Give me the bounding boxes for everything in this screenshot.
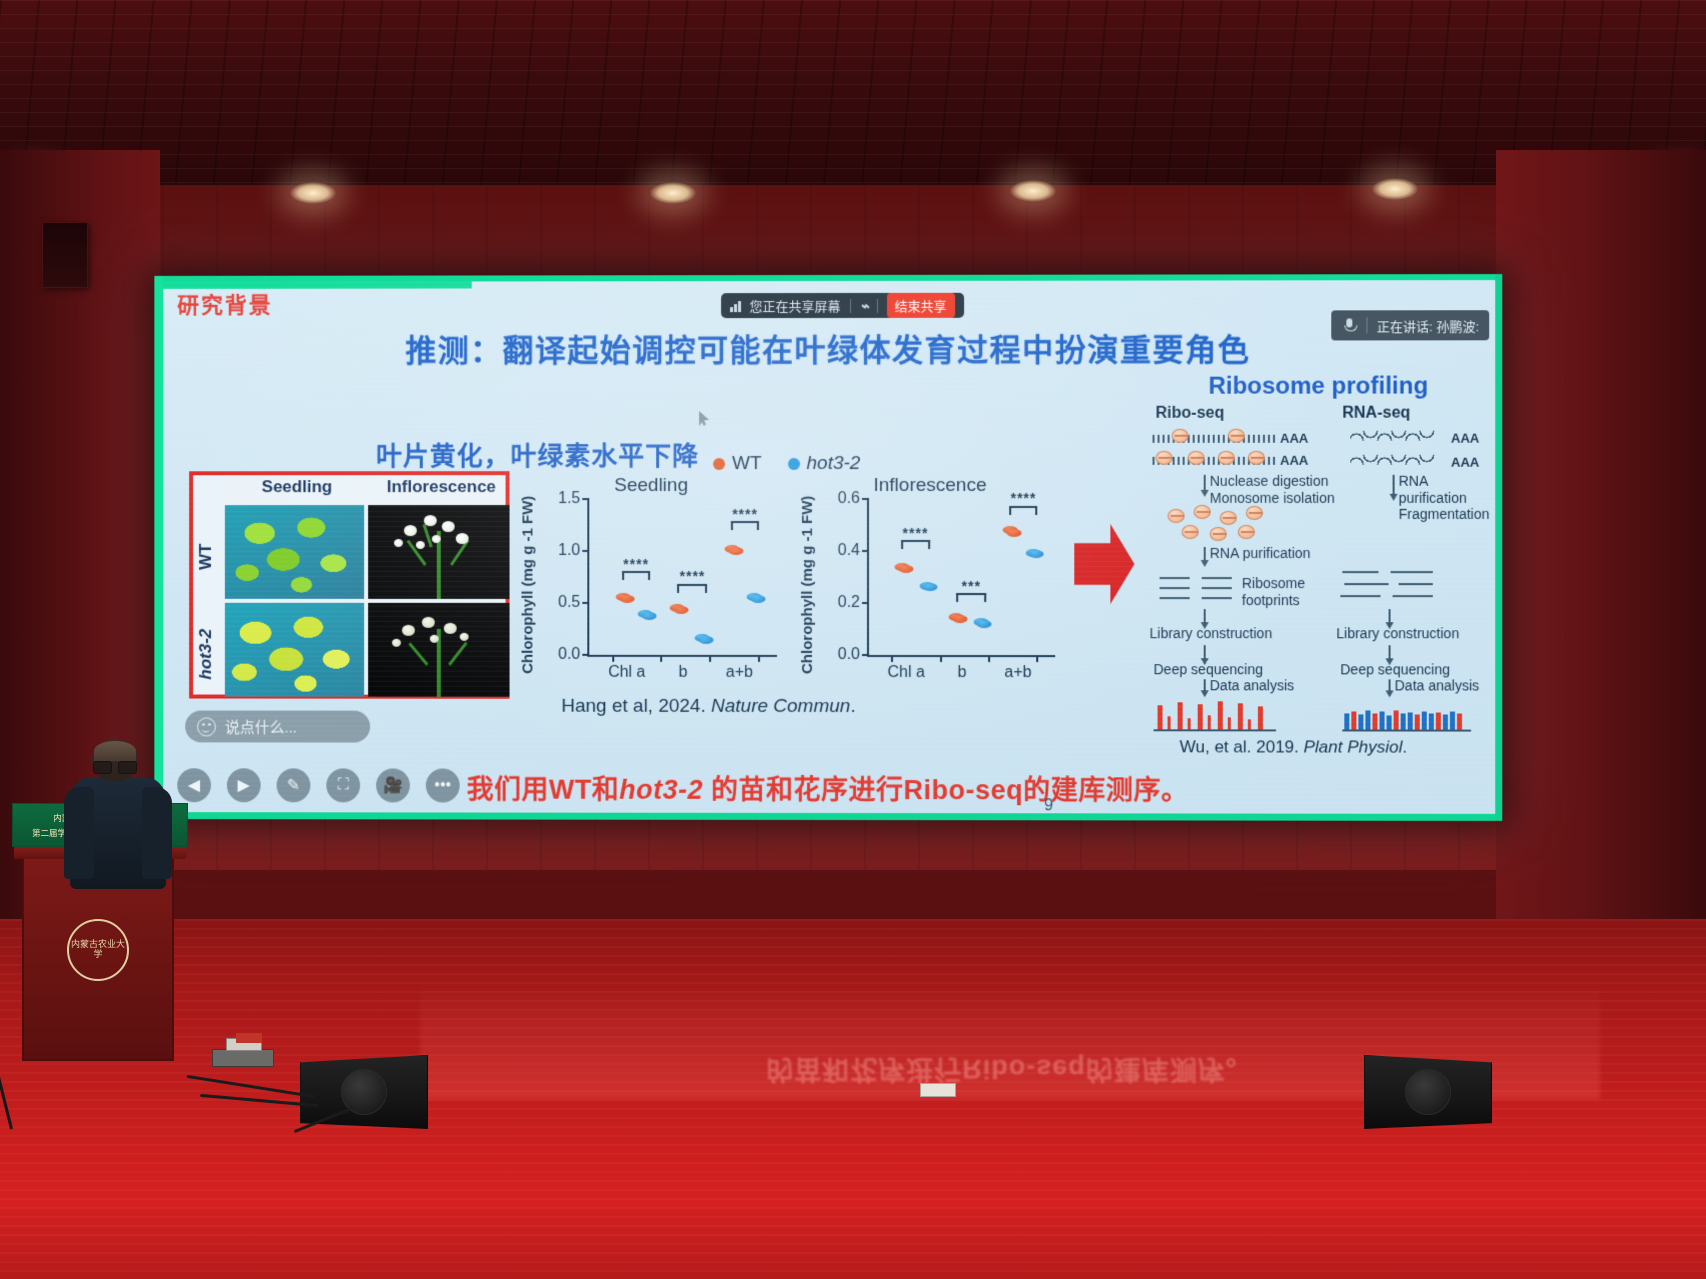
ceiling-light bbox=[290, 182, 336, 204]
slide-canvas: 您正在共享屏幕 ⌁ 结束共享 正在讲话: 孙鹏波: 研究背景 推测：翻译起始调控… bbox=[163, 280, 1495, 814]
data-point-wt bbox=[899, 565, 914, 573]
flower bbox=[460, 633, 469, 641]
smiley-icon[interactable] bbox=[197, 717, 216, 736]
y-tick: 0.5 bbox=[558, 594, 589, 612]
ribosome-icon bbox=[1220, 511, 1237, 525]
rna-fragment bbox=[1344, 583, 1388, 585]
y-axis-label-inflorescence: Chlorophyll (mg g -1 FW) bbox=[797, 499, 817, 671]
y-tick: 0.4 bbox=[838, 542, 869, 560]
rna-fragment bbox=[1393, 595, 1433, 597]
more-options-button[interactable]: ••• bbox=[426, 769, 460, 803]
presenter bbox=[64, 739, 172, 889]
rna-seq-coverage-plot bbox=[1342, 697, 1471, 729]
bottom-note-pre: 我们用WT和 bbox=[467, 775, 620, 805]
phenotype-photo-panel: Seedling Inflorescence WT hot3-2 bbox=[189, 471, 509, 699]
mrna-strand bbox=[1150, 435, 1276, 443]
ribosome-icon bbox=[1182, 525, 1199, 539]
data-point-hot3-2 bbox=[923, 583, 938, 591]
photo-row-hot3-2: hot3-2 bbox=[196, 613, 218, 697]
step-label-data-analysis-ribo: Data analysis bbox=[1210, 677, 1294, 694]
red-arrow-icon bbox=[1074, 524, 1134, 604]
auditorium-scene: 的苗和花序进行Ribo-seq的建库测序。 您正在共享屏幕 ⌁ 结束共享 正在讲… bbox=[0, 0, 1706, 1279]
citation-suffix: . bbox=[850, 696, 855, 717]
y-tick: 0.6 bbox=[838, 490, 869, 508]
screenshot-button[interactable]: ⛶ bbox=[326, 768, 360, 802]
x-tick: b bbox=[958, 655, 967, 682]
photo-col-inflorescence: Inflorescence bbox=[369, 477, 513, 503]
significance-marker: **** bbox=[680, 569, 706, 583]
flow-arrow bbox=[1393, 475, 1395, 495]
photo-seedling-hot3-2 bbox=[225, 603, 364, 697]
stage-equipment-case bbox=[212, 1049, 274, 1067]
data-point-wt bbox=[728, 547, 743, 555]
flower bbox=[402, 625, 415, 636]
ribo-seq-coverage-plot bbox=[1154, 697, 1276, 729]
flower bbox=[424, 515, 437, 526]
green-rosette bbox=[225, 505, 364, 599]
ribosome-icon bbox=[1246, 506, 1263, 520]
flower bbox=[416, 541, 425, 549]
chart-inflorescence: Inflorescence Chlorophyll (mg g -1 FW) 0… bbox=[801, 477, 1059, 695]
significance-marker: **** bbox=[732, 507, 758, 521]
ribosome-icon bbox=[1210, 527, 1227, 541]
bottom-note-post: 的苗和花序进行Ribo-seq的建库测序。 bbox=[703, 775, 1189, 806]
chart-citation: Hang et al, 2024. Nature Commun. bbox=[561, 696, 855, 718]
legend-label-wt: WT bbox=[732, 453, 762, 475]
ribosome-icon bbox=[1238, 525, 1255, 539]
slide-subtitle: 叶片黄化，叶绿素水平下降 bbox=[376, 436, 699, 473]
ribosome-icon bbox=[1172, 429, 1189, 443]
citation-journal: Plant Physiol bbox=[1304, 737, 1403, 756]
ribosome-profiling-panel: Ribosome profiling Ribo-seq RNA-seq AAA … bbox=[1143, 372, 1493, 753]
footprint-fragment bbox=[1160, 577, 1190, 579]
ceiling-light bbox=[1010, 180, 1056, 202]
chat-placeholder: 说点什么... bbox=[225, 716, 297, 737]
ribosome-profiling-title: Ribosome profiling bbox=[1143, 372, 1493, 400]
play-button[interactable]: ▶ bbox=[227, 768, 261, 802]
flow-arrow bbox=[1204, 547, 1206, 561]
ceiling bbox=[0, 0, 1706, 185]
previous-slide-button[interactable]: ◀ bbox=[177, 768, 211, 802]
citation-suffix: . bbox=[1402, 738, 1407, 757]
column-title-ribo-seq: Ribo-seq bbox=[1156, 405, 1225, 423]
ribosome-icon bbox=[1228, 429, 1245, 443]
y-tick: 0.0 bbox=[558, 646, 589, 664]
y-axis-label-seedling: Chlorophyll (mg g -1 FW) bbox=[518, 499, 538, 671]
flower bbox=[422, 617, 435, 628]
rna-fragment bbox=[1391, 571, 1433, 573]
y-tick: 0.2 bbox=[838, 594, 869, 612]
flow-arrow bbox=[1389, 645, 1391, 659]
ribosome-icon bbox=[1156, 451, 1173, 465]
flow-arrow bbox=[1204, 645, 1206, 659]
step-label-deep-sequencing-rna: Deep sequencing bbox=[1340, 661, 1450, 678]
screen-border-left bbox=[154, 276, 163, 819]
share-status-text: 您正在共享屏幕 bbox=[750, 296, 841, 315]
flower bbox=[432, 535, 441, 543]
stage-floor-object bbox=[920, 1083, 956, 1097]
chart-seedling: Seedling Chlorophyll (mg g -1 FW) 0.0 0.… bbox=[521, 477, 781, 695]
rna-fragment bbox=[1340, 595, 1380, 597]
pause-share-icon[interactable]: ⌁ bbox=[858, 296, 869, 314]
data-point-wt bbox=[1007, 529, 1022, 537]
mouse-cursor bbox=[699, 411, 709, 426]
signal-bars-icon bbox=[730, 300, 740, 312]
significance-marker: *** bbox=[962, 579, 981, 593]
data-point-hot3-2 bbox=[642, 612, 657, 620]
footprint-fragment bbox=[1202, 597, 1232, 599]
presenter-glasses bbox=[93, 761, 137, 772]
citation-authors: Wu, et al. 2019. bbox=[1180, 737, 1304, 756]
footprint-fragment bbox=[1202, 577, 1232, 579]
bottom-note-genotype: hot3-2 bbox=[619, 775, 703, 805]
footprint-fragment bbox=[1160, 587, 1190, 589]
citation-authors: Hang et al, 2024. bbox=[561, 696, 711, 717]
data-point-hot3-2 bbox=[977, 620, 992, 628]
y-tick: 1.5 bbox=[558, 490, 589, 508]
photo-col-seedling: Seedling bbox=[225, 477, 369, 503]
significance-marker: **** bbox=[623, 557, 649, 571]
step-label-ribosome-footprints: Ribosome footprints bbox=[1242, 575, 1305, 608]
ribosome-icon bbox=[1248, 451, 1265, 465]
flower bbox=[392, 639, 401, 647]
wall-vent bbox=[42, 222, 88, 288]
chat-input[interactable]: 说点什么... bbox=[185, 710, 370, 742]
legend-dot-wt bbox=[713, 458, 725, 470]
annotate-pen-button[interactable]: ✎ bbox=[277, 768, 311, 802]
flower bbox=[404, 525, 417, 536]
photo-row-wt: WT bbox=[196, 519, 218, 595]
step-label-data-analysis-rna: Data analysis bbox=[1395, 677, 1480, 694]
slide-page-number: 9 bbox=[1044, 797, 1053, 814]
data-point-hot3-2 bbox=[698, 636, 713, 644]
rna-wavy-strand bbox=[1350, 455, 1443, 465]
photo-seedling-wt bbox=[225, 505, 364, 599]
x-tick: Chl a bbox=[888, 655, 925, 682]
flow-arrow bbox=[1389, 609, 1391, 623]
data-point-hot3-2 bbox=[1029, 550, 1044, 558]
column-title-rna-seq: RNA-seq bbox=[1342, 405, 1410, 423]
flower bbox=[456, 533, 469, 544]
legend-item-wt: WT bbox=[713, 453, 761, 475]
poly-a-label: AAA bbox=[1451, 431, 1479, 446]
rna-fragment bbox=[1342, 571, 1378, 573]
data-point-wt bbox=[674, 606, 689, 614]
presenter-shoulder-right bbox=[142, 787, 172, 879]
flower bbox=[442, 521, 455, 532]
poly-a-label: AAA bbox=[1451, 455, 1479, 470]
photo-inflorescence-hot3-2 bbox=[368, 603, 509, 697]
step-label-library-construction-rna: Library construction bbox=[1336, 625, 1459, 642]
right-wall bbox=[1496, 150, 1706, 950]
footprint-fragment bbox=[1160, 597, 1190, 599]
x-tick: a+b bbox=[726, 655, 753, 682]
x-tick: a+b bbox=[1004, 655, 1031, 682]
active-speaker-text: 正在讲话: 孙鹏波: bbox=[1377, 316, 1479, 335]
presenter-shoulder-left bbox=[64, 787, 94, 879]
step-label-rna-purification-fragmentation: RNA purification Fragmentation bbox=[1399, 473, 1494, 523]
projection-screen: 您正在共享屏幕 ⌁ 结束共享 正在讲话: 孙鹏波: 研究背景 推测：翻译起始调控… bbox=[154, 274, 1502, 821]
chart-legend: WT hot3-2 bbox=[713, 453, 860, 475]
end-share-button[interactable]: 结束共享 bbox=[887, 293, 955, 318]
rna-fragment bbox=[1399, 583, 1433, 585]
ribosome-icon bbox=[1194, 505, 1211, 519]
flower bbox=[430, 635, 439, 643]
step-label-rna-purification: RNA purification bbox=[1210, 545, 1311, 562]
data-point-hot3-2 bbox=[751, 595, 766, 603]
flower bbox=[444, 623, 457, 634]
ceiling-grid bbox=[0, 0, 1706, 185]
speaker-cone bbox=[1405, 1069, 1451, 1115]
flow-arrow bbox=[1204, 475, 1206, 491]
stage-equipment-red-box bbox=[236, 1033, 262, 1043]
ribosome-icon bbox=[1218, 451, 1235, 465]
y-tick: 1.0 bbox=[558, 542, 589, 560]
plot-area-inflorescence: 0.0 0.2 0.4 0.6 Chl a b a+b bbox=[867, 499, 1055, 657]
legend-label-hot3-2: hot3-2 bbox=[807, 453, 861, 475]
podium-seal: 内蒙古农业大学 bbox=[67, 919, 129, 981]
yellow-rosette bbox=[225, 603, 364, 697]
slide-kicker: 研究背景 bbox=[177, 288, 272, 320]
data-point-wt bbox=[953, 615, 968, 623]
zoom-active-speaker-bar: 正在讲话: 孙鹏波: bbox=[1331, 310, 1489, 340]
step-label-deep-sequencing-ribo: Deep sequencing bbox=[1154, 661, 1263, 678]
legend-dot-hot3-2 bbox=[788, 458, 800, 470]
microphone-icon bbox=[1341, 317, 1357, 333]
ceiling-light bbox=[1372, 178, 1418, 200]
step-label-nuclease-digestion: Nuclease digestion Monosome isolation bbox=[1210, 473, 1335, 506]
ceiling-light bbox=[650, 182, 696, 204]
rna-wavy-strand bbox=[1350, 431, 1443, 441]
presenter-hair bbox=[94, 741, 136, 761]
ribosome-icon bbox=[1168, 509, 1185, 523]
data-point-wt bbox=[619, 595, 634, 603]
slide-title: 推测：翻译起始调控可能在叶绿体发育过程中扮演重要角色 bbox=[163, 324, 1495, 370]
x-tick: b bbox=[679, 655, 688, 682]
poly-a-label: AAA bbox=[1280, 453, 1308, 468]
divider bbox=[1367, 317, 1368, 333]
legend-item-hot3-2: hot3-2 bbox=[788, 453, 861, 475]
ribosome-panel-citation: Wu, et al. 2019. Plant Physiol. bbox=[1180, 737, 1408, 757]
slide-toolbar[interactable]: ◀ ▶ ✎ ⛶ 🎥 ••• bbox=[177, 768, 460, 802]
zoom-share-bar: 您正在共享屏幕 ⌁ 结束共享 bbox=[721, 293, 964, 318]
stage-monitor-right bbox=[1364, 1055, 1492, 1129]
citation-journal: Nature Commun bbox=[711, 696, 850, 717]
footprint-fragment bbox=[1202, 587, 1232, 589]
significance-marker: **** bbox=[903, 526, 929, 540]
poly-a-label: AAA bbox=[1280, 431, 1308, 446]
y-tick: 0.0 bbox=[838, 646, 869, 664]
ribosome-icon bbox=[1188, 451, 1205, 465]
flower bbox=[394, 539, 403, 547]
plot-area-seedling: 0.0 0.5 1.0 1.5 Chl a b a+b bbox=[587, 499, 777, 657]
x-tick: Chl a bbox=[608, 655, 645, 682]
step-label-library-construction-ribo: Library construction bbox=[1150, 625, 1273, 642]
photo-inflorescence-wt bbox=[368, 505, 509, 599]
flow-arrow bbox=[1204, 679, 1206, 691]
screen-border-right bbox=[1495, 274, 1502, 821]
significance-marker: **** bbox=[1011, 491, 1037, 505]
divider bbox=[877, 298, 878, 312]
stage-monitor-left bbox=[300, 1055, 428, 1129]
flow-arrow bbox=[1389, 679, 1391, 691]
record-video-button[interactable]: 🎥 bbox=[376, 768, 410, 802]
divider bbox=[850, 298, 851, 312]
photo-column-headers: Seedling Inflorescence bbox=[225, 477, 514, 503]
flow-arrow bbox=[1204, 609, 1206, 623]
